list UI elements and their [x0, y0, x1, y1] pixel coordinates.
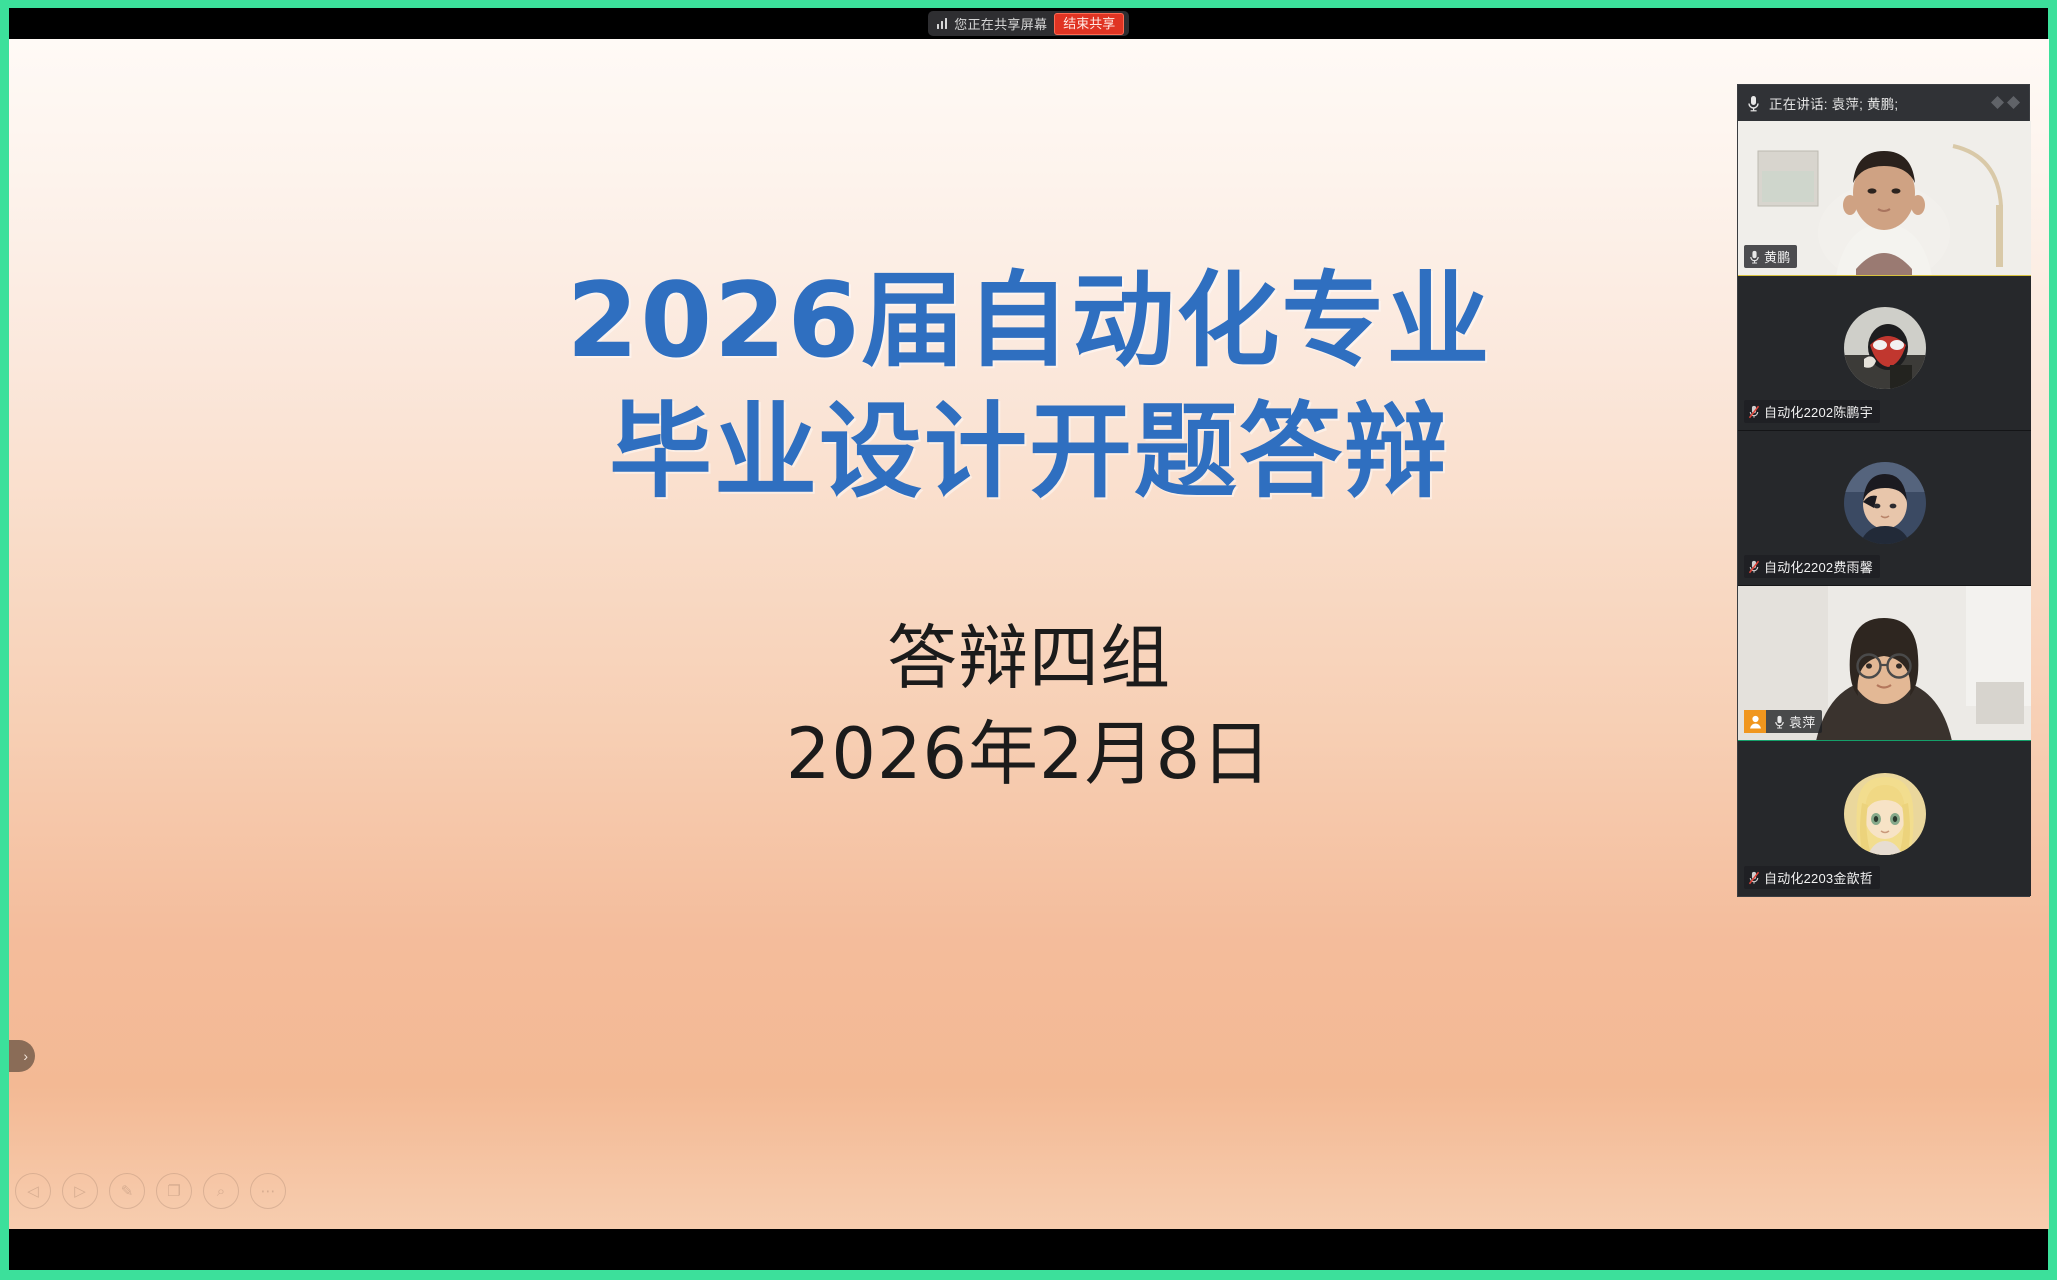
microphone-icon: [1744, 250, 1764, 264]
microphone-muted-icon: [1744, 560, 1764, 574]
participant-name: 自动化2202陈鹏宇: [1764, 402, 1873, 421]
triangle-right-icon: ▷: [74, 1182, 86, 1200]
microphone-icon: [1746, 94, 1761, 113]
microphone-icon: [1769, 715, 1789, 729]
more-options-button[interactable]: ⋯: [250, 1173, 286, 1209]
copy-pages-icon: ❐: [167, 1182, 180, 1200]
participant-tile-video[interactable]: 袁萍: [1738, 586, 2031, 741]
slides-overview-button[interactable]: ❐: [156, 1173, 192, 1209]
share-status-label: 您正在共享屏幕: [954, 14, 1047, 33]
signal-bars-icon: [937, 18, 948, 29]
slide-subtitle: 答辩四组 2026年2月8日: [786, 610, 1272, 803]
next-slide-button[interactable]: ▷: [62, 1173, 98, 1209]
active-speaker-bar: 正在讲话: 袁萍; 黄鹏;: [1738, 85, 2029, 121]
slide-title: 2026届自动化专业 毕业设计开题答辩: [567, 256, 1492, 518]
chevron-right-icon: ›: [23, 1048, 28, 1064]
share-status-pill: 您正在共享屏幕 结束共享: [928, 11, 1130, 36]
magnifier-icon: ⌕: [217, 1183, 225, 1200]
participant-nameplate: 自动化2202费雨馨: [1744, 555, 1880, 578]
participant-filmstrip: 正在讲话: 袁萍; 黄鹏;: [1737, 84, 2030, 897]
active-speaker-label: 正在讲话: 袁萍; 黄鹏;: [1769, 93, 1898, 113]
participant-name: 袁萍: [1789, 712, 1815, 731]
participant-tile-video[interactable]: 黄鹏: [1738, 121, 2031, 276]
participant-tile-avatar[interactable]: 自动化2203金歆哲: [1738, 741, 2031, 896]
slide-toolbar: ◁ ▷ ✎ ❐ ⌕ ⋯: [15, 1173, 286, 1209]
previous-slide-button[interactable]: ◁: [15, 1173, 51, 1209]
avatar: [1844, 462, 1926, 544]
participant-nameplate: 自动化2203金歆哲: [1744, 866, 1880, 889]
participant-nameplate: 自动化2202陈鹏宇: [1744, 400, 1880, 423]
participant-name: 自动化2202费雨馨: [1764, 557, 1873, 576]
pen-icon: ✎: [121, 1182, 134, 1200]
zoom-button[interactable]: ⌕: [203, 1173, 239, 1209]
microphone-muted-icon: [1744, 871, 1764, 885]
host-badge-icon: [1744, 710, 1766, 733]
microphone-muted-icon: [1744, 405, 1764, 419]
ellipsis-icon: ⋯: [261, 1182, 276, 1200]
triangle-left-icon: ◁: [27, 1182, 39, 1200]
participant-tile-avatar[interactable]: 自动化2202陈鹏宇: [1738, 276, 2031, 431]
avatar: [1844, 307, 1926, 389]
participant-name: 黄鹏: [1764, 247, 1790, 266]
screen-share-topbar: 您正在共享屏幕 结束共享: [9, 8, 2048, 39]
participant-tile-avatar[interactable]: 自动化2202费雨馨: [1738, 431, 2031, 586]
participant-nameplate: 袁萍: [1744, 710, 1822, 733]
participant-nameplate: 黄鹏: [1744, 245, 1797, 268]
collapse-arrows-icon[interactable]: [1991, 96, 2020, 109]
avatar: [1844, 773, 1926, 855]
pen-annotate-button[interactable]: ✎: [109, 1173, 145, 1209]
shared-screen-frame: 您正在共享屏幕 结束共享 2026届自动化专业 毕业设计开题答辩 答辩四组 20…: [0, 0, 2057, 1280]
end-share-button[interactable]: 结束共享: [1054, 13, 1124, 35]
expand-panel-handle[interactable]: ›: [9, 1040, 35, 1072]
participant-name: 自动化2203金歆哲: [1764, 868, 1873, 887]
